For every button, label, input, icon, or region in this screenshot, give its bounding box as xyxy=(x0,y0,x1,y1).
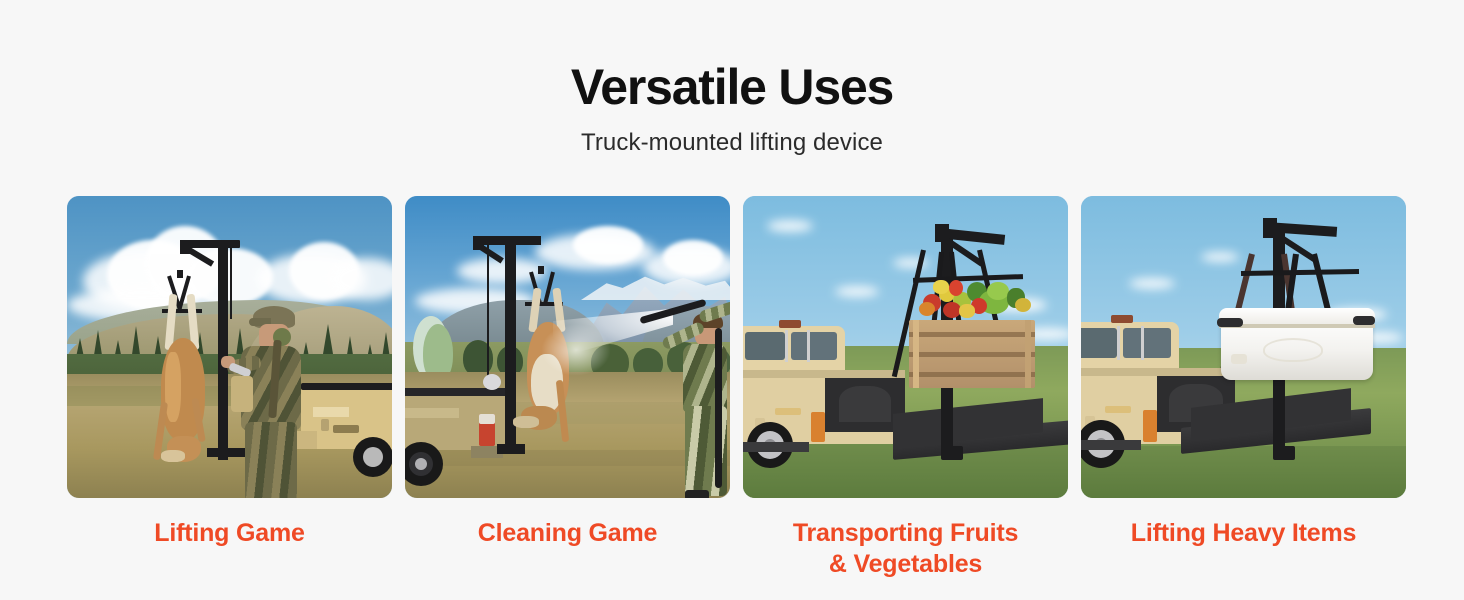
deer-muzzle xyxy=(161,450,185,462)
side-marker xyxy=(1105,406,1131,413)
cooler-handle-right xyxy=(1353,316,1375,325)
hunter-figure xyxy=(227,306,313,498)
cab-light xyxy=(779,320,801,328)
page-subtitle: Truck-mounted lifting device xyxy=(0,129,1464,157)
cooler-drain xyxy=(1231,354,1247,364)
hose xyxy=(715,328,722,488)
person-figure xyxy=(653,288,730,498)
reverse-light xyxy=(479,414,495,424)
photo-cleaning-game xyxy=(405,196,730,498)
water-mist xyxy=(541,324,611,376)
caption-transporting-produce: Transporting Fruits & Vegetables xyxy=(743,518,1068,580)
gallery-item-cleaning-game[interactable]: Cleaning Game xyxy=(405,196,730,580)
photo-lifting-game xyxy=(67,196,392,498)
bed-rail xyxy=(1081,368,1235,376)
rocker-panel xyxy=(743,442,809,452)
caption-line-1: Transporting Fruits xyxy=(793,519,1018,547)
wheel-well xyxy=(839,386,891,422)
boot xyxy=(685,490,709,498)
bed-rail xyxy=(743,370,905,378)
deer-muzzle xyxy=(513,416,539,428)
photo-lifting-heavy-items xyxy=(1081,196,1406,498)
produce-pile xyxy=(919,276,1027,322)
caption-cleaning-game: Cleaning Game xyxy=(405,518,730,549)
hoist-foot xyxy=(941,446,963,460)
camo-pants xyxy=(245,422,297,498)
pouch xyxy=(231,376,253,412)
body-highlight xyxy=(313,407,349,417)
pickup-truck xyxy=(743,326,919,486)
caption-lifting-heavy-items: Lifting Heavy Items xyxy=(1081,518,1406,549)
pickup-truck xyxy=(405,384,513,498)
gallery-item-lifting-heavy-items[interactable]: Lifting Heavy Items xyxy=(1081,196,1406,580)
infographic-page: Versatile Uses Truck-mounted lifting dev… xyxy=(0,0,1464,600)
door-handle xyxy=(321,419,329,431)
gambrel-hook xyxy=(538,266,544,274)
header: Versatile Uses Truck-mounted lifting dev… xyxy=(0,0,1464,157)
hoist-boom-end xyxy=(473,236,484,250)
cooler-emboss xyxy=(1263,338,1323,362)
hoist-cable xyxy=(487,240,489,378)
badge xyxy=(333,425,359,433)
produce-crate xyxy=(909,304,1035,388)
page-title: Versatile Uses xyxy=(0,62,1464,112)
rocker-panel xyxy=(1081,440,1141,450)
cooler-handle-left xyxy=(1217,318,1243,327)
gambrel-hook xyxy=(177,270,183,278)
photo-transporting-produce xyxy=(743,196,1068,498)
caption-line-2: & Vegetables xyxy=(829,550,982,578)
hoist-boom-end xyxy=(180,240,190,254)
hoist-boom-end xyxy=(935,224,949,242)
hoist-boom-end xyxy=(1263,218,1277,238)
use-case-gallery: Lifting Game xyxy=(67,196,1406,580)
cab-light xyxy=(1111,315,1133,323)
bed-rail xyxy=(301,383,392,390)
hanging-deer xyxy=(155,294,217,470)
side-marker xyxy=(775,408,801,415)
gallery-item-transporting-produce[interactable]: Transporting Fruits & Vegetables xyxy=(743,196,1068,580)
hoist-foot xyxy=(1273,446,1295,460)
winch xyxy=(483,374,501,390)
caption-lifting-game: Lifting Game xyxy=(67,518,392,549)
gallery-item-lifting-game[interactable]: Lifting Game xyxy=(67,196,392,580)
hoist-base xyxy=(497,444,525,454)
